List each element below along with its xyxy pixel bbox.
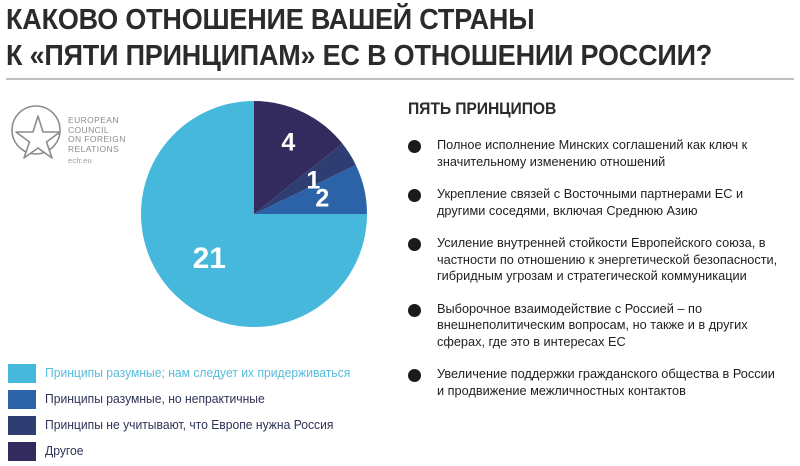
legend-item-label: Принципы разумные; нам следует их придер… bbox=[45, 366, 350, 380]
logo-line-4: RELATIONS bbox=[68, 145, 126, 155]
principle-text: Усиление внутренней стойкости Европейско… bbox=[437, 235, 785, 285]
legend-color-swatch bbox=[8, 390, 36, 409]
title-line-1: КАКОВО ОТНОШЕНИЕ ВАШЕЙ СТРАНЫ bbox=[6, 2, 722, 38]
principle-item: Укрепление связей с Восточными партнерам… bbox=[408, 186, 792, 219]
pie-chart-svg: 21214 bbox=[141, 101, 367, 327]
bullet-icon bbox=[408, 140, 421, 153]
page-title: КАКОВО ОТНОШЕНИЕ ВАШЕЙ СТРАНЫ К «ПЯТИ ПР… bbox=[6, 2, 776, 74]
principle-item: Выборочное взаимодействие с Россией – по… bbox=[408, 301, 792, 351]
title-line-2: К «ПЯТИ ПРИНЦИПАМ» ЕС В ОТНОШЕНИИ РОССИИ… bbox=[6, 38, 722, 74]
legend-item[interactable]: Принципы не учитывают, что Европе нужна … bbox=[8, 412, 388, 438]
legend-item-label: Принципы разумные, но непрактичные bbox=[45, 392, 265, 406]
principle-text: Полное исполнение Минских соглашений как… bbox=[437, 137, 785, 170]
legend-item[interactable]: Принципы разумные, но непрактичные bbox=[8, 386, 388, 412]
legend-color-swatch bbox=[8, 364, 36, 383]
principle-text: Укрепление связей с Восточными партнерам… bbox=[437, 186, 785, 219]
bullet-icon bbox=[408, 238, 421, 251]
legend-item-label: Другое bbox=[45, 444, 84, 458]
ecfr-logo: EUROPEAN COUNCIL ON FOREIGN RELATIONS ec… bbox=[8, 104, 148, 174]
principles-list: Полное исполнение Минских соглашений как… bbox=[408, 137, 792, 399]
legend-color-swatch bbox=[8, 442, 36, 461]
principle-text: Увеличение поддержки гражданского общест… bbox=[437, 366, 785, 399]
legend-color-swatch bbox=[8, 416, 36, 435]
principle-item: Усиление внутренней стойкости Европейско… bbox=[408, 235, 792, 285]
principle-text: Выборочное взаимодействие с Россией – по… bbox=[437, 301, 785, 351]
bullet-icon bbox=[408, 369, 421, 382]
legend-item-label: Принципы не учитывают, что Европе нужна … bbox=[45, 418, 333, 432]
pie-slice-label: 1 bbox=[306, 167, 320, 195]
pie-slice-group bbox=[141, 101, 367, 327]
bullet-icon bbox=[408, 304, 421, 317]
principle-item: Полное исполнение Минских соглашений как… bbox=[408, 137, 792, 170]
logo-url: ecfr.eu bbox=[68, 156, 126, 166]
chart-legend: Принципы разумные; нам следует их придер… bbox=[8, 360, 388, 464]
ecfr-logo-text: EUROPEAN COUNCIL ON FOREIGN RELATIONS ec… bbox=[68, 116, 126, 166]
legend-item[interactable]: Другое bbox=[8, 438, 388, 464]
pie-slice-label: 4 bbox=[281, 129, 295, 157]
principle-item: Увеличение поддержки гражданского общест… bbox=[408, 366, 792, 399]
title-divider bbox=[6, 78, 794, 80]
pie-chart: 21214 bbox=[141, 101, 367, 327]
legend-item[interactable]: Принципы разумные; нам следует их придер… bbox=[8, 360, 388, 386]
principles-panel: ПЯТЬ ПРИНЦИПОВ Полное исполнение Минских… bbox=[408, 100, 792, 415]
principles-heading: ПЯТЬ ПРИНЦИПОВ bbox=[408, 100, 773, 119]
infographic-page: КАКОВО ОТНОШЕНИЕ ВАШЕЙ СТРАНЫ К «ПЯТИ ПР… bbox=[0, 0, 800, 466]
ecfr-star-circle-icon bbox=[8, 104, 64, 160]
pie-slice-label: 21 bbox=[193, 242, 226, 275]
bullet-icon bbox=[408, 189, 421, 202]
